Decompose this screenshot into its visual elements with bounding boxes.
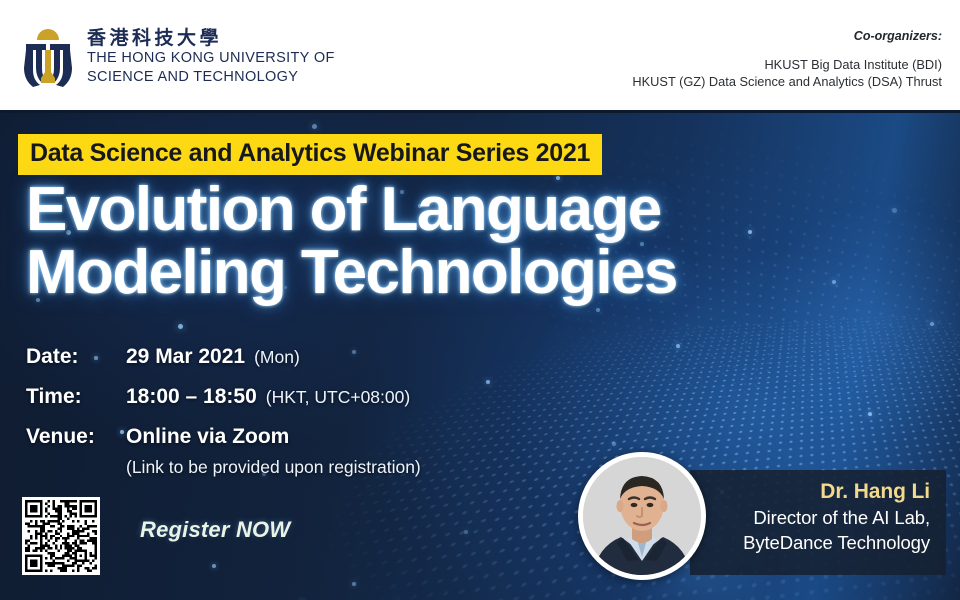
poster-header: 香港科技大學 THE HONG KONG UNIVERSITY OF SCIEN… <box>0 0 960 112</box>
sparkle-dot <box>612 442 616 446</box>
co-organizers-label: Co-organizers: <box>632 28 942 44</box>
detail-row-date: Date: 29 Mar 2021 (Mon) <box>26 344 421 370</box>
detail-label: Date: <box>26 344 126 370</box>
speaker-info: Dr. Hang Li Director of the AI Lab, Byte… <box>690 470 946 575</box>
avatar <box>578 452 706 580</box>
webinar-poster: 香港科技大學 THE HONG KONG UNIVERSITY OF SCIEN… <box>0 0 960 600</box>
event-details: Date: 29 Mar 2021 (Mon) Time: 18:00 – 18… <box>26 344 421 479</box>
detail-note: (Mon) <box>254 344 300 370</box>
detail-value: 29 Mar 2021 <box>126 344 245 370</box>
qr-code-canvas <box>25 500 97 572</box>
venue-note: (Link to be provided upon registration) <box>126 455 421 479</box>
sparkle-dot <box>930 322 934 326</box>
sparkle-dot <box>312 124 317 129</box>
hkust-name-english-line1: THE HONG KONG UNIVERSITY OF <box>87 49 335 68</box>
detail-value: 18:00 – 18:50 <box>126 384 257 410</box>
sparkle-dot <box>892 208 897 213</box>
hkust-logo: 香港科技大學 THE HONG KONG UNIVERSITY OF SCIEN… <box>22 26 335 90</box>
detail-label: Time: <box>26 384 126 410</box>
sparkle-dot <box>676 344 680 348</box>
detail-note: (HKT, UTC+08:00) <box>266 384 410 410</box>
sparkle-dot <box>868 412 872 416</box>
sparkle-dot <box>832 280 836 284</box>
hkust-name-chinese: 香港科技大學 <box>87 27 335 49</box>
speaker-role-line2: ByteDance Technology <box>690 530 930 555</box>
detail-row-time: Time: 18:00 – 18:50 (HKT, UTC+08:00) <box>26 384 421 410</box>
sparkle-dot <box>178 324 183 329</box>
sparkle-dot <box>352 582 356 586</box>
detail-value: Online via Zoom <box>126 424 289 450</box>
detail-row-venue: Venue: Online via Zoom <box>26 424 421 450</box>
page-title-line1: Evolution of Language <box>26 178 677 241</box>
hkust-book-sun-logo-icon <box>22 26 74 90</box>
detail-label: Venue: <box>26 424 126 450</box>
series-banner: Data Science and Analytics Webinar Serie… <box>18 134 602 175</box>
speaker-name: Dr. Hang Li <box>690 479 930 505</box>
sparkle-dot <box>486 380 490 384</box>
sparkle-dot <box>212 564 216 568</box>
hkust-logo-wordmark: 香港科技大學 THE HONG KONG UNIVERSITY OF SCIEN… <box>87 26 335 86</box>
register-now-cta[interactable]: Register NOW <box>140 517 290 543</box>
page-title-line2: Modeling Technologies <box>26 241 677 304</box>
co-organizer-item: HKUST Big Data Institute (BDI) <box>632 56 942 73</box>
qr-code-icon[interactable] <box>22 497 100 575</box>
co-organizer-item: HKUST (GZ) Data Science and Analytics (D… <box>632 73 942 90</box>
header-divider <box>0 110 960 113</box>
speaker-role-line1: Director of the AI Lab, <box>690 505 930 530</box>
hkust-name-english-line2: SCIENCE AND TECHNOLOGY <box>87 68 335 87</box>
poster-title: Evolution of Language Modeling Technolog… <box>26 178 677 304</box>
co-organizers-block: Co-organizers: HKUST Big Data Institute … <box>632 28 942 90</box>
sparkle-dot <box>464 530 468 534</box>
